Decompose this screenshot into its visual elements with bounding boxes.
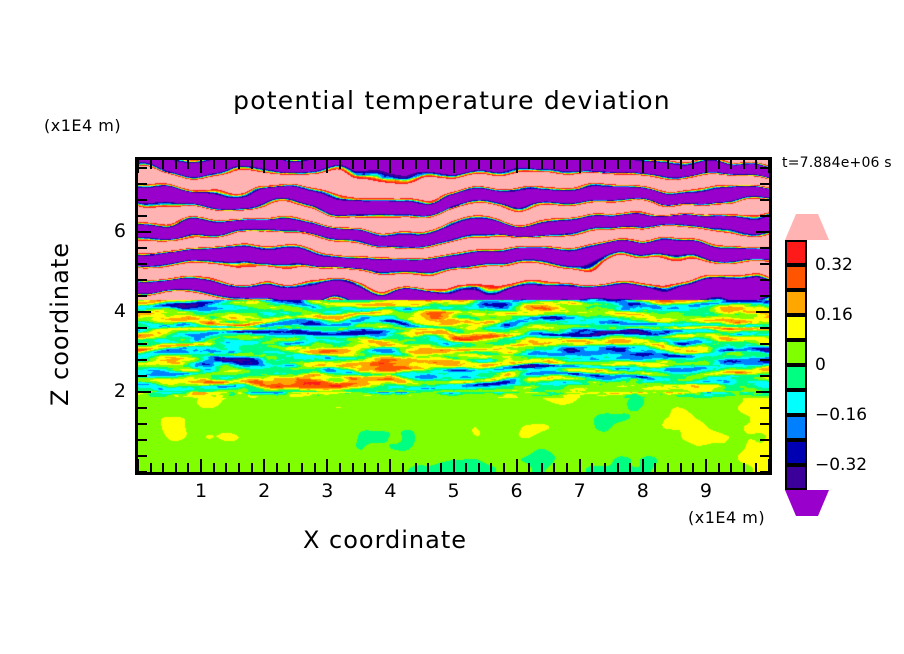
- y-major-tick: [138, 391, 151, 393]
- y-minor-tick: [138, 439, 147, 441]
- y-minor-tick-right: [760, 295, 769, 297]
- y-minor-tick: [138, 263, 147, 265]
- y-minor-tick: [138, 423, 147, 425]
- y-tick-label: 2: [86, 380, 126, 402]
- x-minor-tick-top: [301, 160, 303, 169]
- y-minor-tick: [138, 167, 147, 169]
- y-tick-label: 6: [86, 220, 126, 242]
- x-tick-label: 4: [370, 480, 410, 502]
- x-minor-tick: [150, 463, 152, 472]
- x-minor-tick: [541, 463, 543, 472]
- x-minor-tick-top: [415, 160, 417, 169]
- x-minor-tick-top: [150, 160, 152, 169]
- x-minor-tick-top: [440, 160, 442, 169]
- x-minor-tick-top: [503, 160, 505, 169]
- y-major-tick: [138, 231, 151, 233]
- x-minor-tick: [718, 463, 720, 472]
- colorbar-band: [785, 240, 807, 265]
- x-major-tick: [705, 459, 707, 472]
- x-major-tick-top: [200, 160, 202, 173]
- colorbar-band: [785, 265, 807, 290]
- y-minor-tick: [138, 183, 147, 185]
- x-minor-tick: [667, 463, 669, 472]
- page-title: potential temperature deviation: [0, 86, 904, 115]
- x-minor-tick: [478, 463, 480, 472]
- y-minor-tick-right: [760, 455, 769, 457]
- x-minor-tick: [175, 463, 177, 472]
- x-minor-tick: [187, 463, 189, 472]
- x-major-tick-top: [389, 160, 391, 173]
- x-minor-tick-top: [251, 160, 253, 169]
- colorbar-band: [785, 440, 807, 465]
- x-minor-tick-top: [553, 160, 555, 169]
- x-minor-tick-top: [314, 160, 316, 169]
- x-major-tick: [579, 459, 581, 472]
- x-minor-tick: [528, 463, 530, 472]
- y-minor-tick-right: [760, 327, 769, 329]
- x-minor-tick: [314, 463, 316, 472]
- y-minor-tick-right: [760, 375, 769, 377]
- colorbar-over-arrow: [785, 214, 829, 240]
- x-minor-tick: [162, 463, 164, 472]
- y-axis-title: Z coordinate: [46, 204, 74, 444]
- x-major-tick-top: [516, 160, 518, 173]
- y-minor-tick-right: [760, 279, 769, 281]
- x-major-tick: [263, 459, 265, 472]
- x-minor-tick-top: [755, 160, 757, 169]
- x-minor-tick-top: [288, 160, 290, 169]
- colorbar-tick-label: 0.16: [815, 305, 853, 325]
- x-minor-tick-top: [427, 160, 429, 169]
- colorbar-tick-label: 0.32: [815, 255, 853, 275]
- x-minor-tick-top: [478, 160, 480, 169]
- x-major-tick: [642, 459, 644, 472]
- x-tick-label: 6: [497, 480, 537, 502]
- temperature-deviation-field: [138, 160, 769, 472]
- y-minor-tick-right: [760, 471, 769, 473]
- x-minor-tick-top: [604, 160, 606, 169]
- x-minor-tick-top: [541, 160, 543, 169]
- x-minor-tick: [276, 463, 278, 472]
- y-minor-tick: [138, 327, 147, 329]
- x-axis-unit-label: (x1E4 m): [688, 508, 765, 527]
- x-minor-tick-top: [680, 160, 682, 169]
- x-minor-tick: [364, 463, 366, 472]
- y-major-tick-right: [756, 231, 769, 233]
- x-minor-tick-top: [352, 160, 354, 169]
- x-tick-label: 1: [181, 480, 221, 502]
- y-minor-tick-right: [760, 199, 769, 201]
- x-minor-tick: [288, 463, 290, 472]
- x-major-tick: [453, 459, 455, 472]
- y-minor-tick-right: [760, 263, 769, 265]
- x-minor-tick: [503, 463, 505, 472]
- x-major-tick: [200, 459, 202, 472]
- x-axis-title: X coordinate: [0, 526, 770, 554]
- x-tick-label: 2: [244, 480, 284, 502]
- x-minor-tick-top: [629, 160, 631, 169]
- x-minor-tick: [251, 463, 253, 472]
- figure-canvas: potential temperature deviation (x1E4 m)…: [0, 0, 904, 654]
- x-minor-tick-top: [591, 160, 593, 169]
- x-minor-tick-top: [667, 160, 669, 169]
- x-minor-tick: [680, 463, 682, 472]
- x-minor-tick-top: [692, 160, 694, 169]
- x-minor-tick: [490, 463, 492, 472]
- x-major-tick: [516, 459, 518, 472]
- x-minor-tick-top: [213, 160, 215, 169]
- x-tick-label: 7: [560, 480, 600, 502]
- colorbar-band: [785, 365, 807, 390]
- x-major-tick: [326, 459, 328, 472]
- x-major-tick: [389, 459, 391, 472]
- y-minor-tick-right: [760, 183, 769, 185]
- x-minor-tick-top: [175, 160, 177, 169]
- x-tick-label: 8: [623, 480, 663, 502]
- contour-plot-area: [135, 157, 772, 475]
- x-minor-tick: [352, 463, 354, 472]
- x-minor-tick: [604, 463, 606, 472]
- x-major-tick-top: [326, 160, 328, 173]
- x-minor-tick-top: [490, 160, 492, 169]
- colorbar-tick-label: −0.32: [815, 455, 867, 475]
- x-minor-tick-top: [402, 160, 404, 169]
- y-minor-tick: [138, 279, 147, 281]
- x-minor-tick-top: [276, 160, 278, 169]
- y-axis-unit-label: (x1E4 m): [44, 116, 121, 135]
- x-minor-tick-top: [617, 160, 619, 169]
- x-minor-tick: [743, 463, 745, 472]
- y-minor-tick-right: [760, 407, 769, 409]
- y-minor-tick: [138, 407, 147, 409]
- x-minor-tick-top: [718, 160, 720, 169]
- y-minor-tick: [138, 343, 147, 345]
- x-minor-tick: [213, 463, 215, 472]
- x-minor-tick-top: [465, 160, 467, 169]
- x-minor-tick-top: [339, 160, 341, 169]
- x-minor-tick: [566, 463, 568, 472]
- y-minor-tick-right: [760, 359, 769, 361]
- x-tick-label: 9: [686, 480, 726, 502]
- colorbar-band: [785, 465, 807, 490]
- colorbar-under-arrow: [785, 490, 829, 516]
- y-minor-tick: [138, 375, 147, 377]
- y-major-tick-right: [756, 311, 769, 313]
- colorbar-band: [785, 290, 807, 315]
- time-annotation: t=7.884e+06 s: [782, 155, 892, 171]
- colorbar-band: [785, 415, 807, 440]
- y-minor-tick: [138, 455, 147, 457]
- x-major-tick-top: [453, 160, 455, 173]
- x-minor-tick-top: [225, 160, 227, 169]
- y-major-tick-right: [756, 391, 769, 393]
- x-tick-label: 3: [307, 480, 347, 502]
- x-minor-tick-top: [187, 160, 189, 169]
- colorbar-tick-label: 0: [815, 355, 826, 375]
- x-minor-tick: [553, 463, 555, 472]
- y-minor-tick: [138, 247, 147, 249]
- y-minor-tick: [138, 215, 147, 217]
- x-major-tick-top: [705, 160, 707, 173]
- x-minor-tick: [654, 463, 656, 472]
- x-minor-tick-top: [743, 160, 745, 169]
- colorbar-band: [785, 390, 807, 415]
- colorbar: [785, 240, 807, 490]
- y-minor-tick-right: [760, 215, 769, 217]
- x-minor-tick-top: [162, 160, 164, 169]
- x-major-tick-top: [642, 160, 644, 173]
- x-minor-tick-top: [566, 160, 568, 169]
- x-minor-tick: [415, 463, 417, 472]
- x-minor-tick: [238, 463, 240, 472]
- x-tick-label: 5: [434, 480, 474, 502]
- y-major-tick: [138, 311, 151, 313]
- colorbar-band: [785, 340, 807, 365]
- x-minor-tick-top: [238, 160, 240, 169]
- x-minor-tick: [692, 463, 694, 472]
- x-minor-tick-top: [377, 160, 379, 169]
- colorbar-tick-label: −0.16: [815, 405, 867, 425]
- y-minor-tick: [138, 471, 147, 473]
- x-minor-tick: [225, 463, 227, 472]
- x-major-tick-top: [263, 160, 265, 173]
- y-minor-tick-right: [760, 423, 769, 425]
- x-minor-tick: [339, 463, 341, 472]
- x-minor-tick: [591, 463, 593, 472]
- x-minor-tick: [377, 463, 379, 472]
- x-minor-tick: [629, 463, 631, 472]
- x-minor-tick: [755, 463, 757, 472]
- x-minor-tick: [465, 463, 467, 472]
- y-minor-tick: [138, 199, 147, 201]
- y-minor-tick: [138, 295, 147, 297]
- x-minor-tick: [427, 463, 429, 472]
- y-minor-tick-right: [760, 167, 769, 169]
- x-minor-tick: [440, 463, 442, 472]
- x-major-tick-top: [579, 160, 581, 173]
- x-minor-tick-top: [730, 160, 732, 169]
- y-minor-tick-right: [760, 439, 769, 441]
- x-minor-tick: [730, 463, 732, 472]
- colorbar-band: [785, 315, 807, 340]
- y-minor-tick: [138, 359, 147, 361]
- x-minor-tick-top: [364, 160, 366, 169]
- y-tick-label: 4: [86, 300, 126, 322]
- x-minor-tick-top: [654, 160, 656, 169]
- x-minor-tick: [402, 463, 404, 472]
- y-minor-tick-right: [760, 247, 769, 249]
- x-minor-tick: [617, 463, 619, 472]
- x-minor-tick-top: [528, 160, 530, 169]
- x-minor-tick: [301, 463, 303, 472]
- y-minor-tick-right: [760, 343, 769, 345]
